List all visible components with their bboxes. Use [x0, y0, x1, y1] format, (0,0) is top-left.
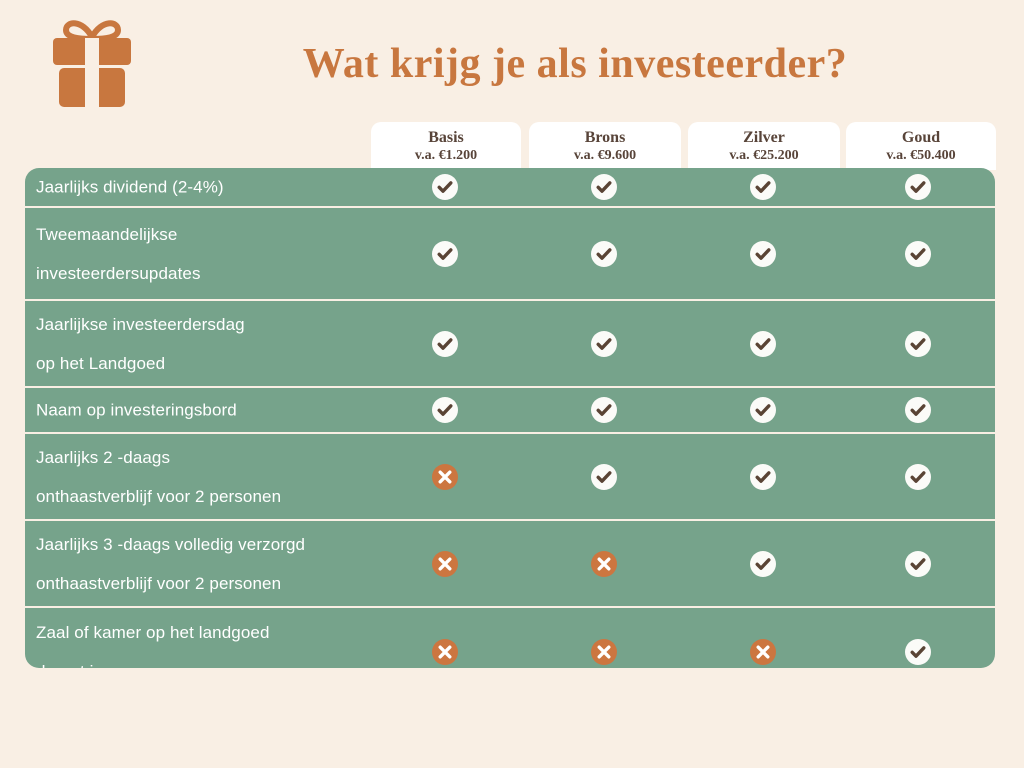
row-label-line: Jaarlijkse investeerdersdag	[36, 305, 396, 344]
column-name: Goud	[902, 128, 940, 147]
check-icon	[750, 331, 776, 357]
check-icon	[591, 464, 617, 490]
cross-icon	[750, 639, 776, 665]
row-label-line: draagt jouw naam	[36, 652, 396, 669]
row-label: Jaarlijks 3 -daags volledig verzorgdonth…	[36, 525, 396, 603]
check-icon	[750, 464, 776, 490]
row-label: Jaarlijks 2 -daagsonthaastverblijf voor …	[36, 438, 396, 516]
row-label-line: Jaarlijks 2 -daags	[36, 438, 396, 477]
row-label-line: onthaastverblijf voor 2 personen	[36, 564, 396, 603]
column-price: v.a. €1.200	[415, 147, 477, 165]
cell-included	[432, 241, 458, 267]
table-row: Zaal of kamer op het landgoeddraagt jouw…	[25, 608, 995, 668]
cross-icon	[591, 639, 617, 665]
column-price: v.a. €25.200	[729, 147, 798, 165]
check-icon	[750, 397, 776, 423]
column-name: Brons	[585, 128, 626, 147]
cell-included	[591, 464, 617, 490]
cell-included	[750, 397, 776, 423]
check-icon	[591, 331, 617, 357]
table-row: Jaarlijks 2 -daagsonthaastverblijf voor …	[25, 434, 995, 521]
check-icon	[905, 551, 931, 577]
column-name: Basis	[428, 128, 464, 147]
cell-included	[432, 397, 458, 423]
cell-excluded	[750, 639, 776, 665]
cross-icon	[432, 464, 458, 490]
check-icon	[905, 639, 931, 665]
cross-icon	[591, 551, 617, 577]
cell-excluded	[432, 639, 458, 665]
column-price: v.a. €50.400	[886, 147, 955, 165]
row-label: Jaarlijks dividend (2-4%)	[36, 168, 396, 207]
cell-included	[432, 174, 458, 200]
check-icon	[591, 397, 617, 423]
row-label-line: investeerdersupdates	[36, 254, 396, 293]
column-price: v.a. €9.600	[574, 147, 636, 165]
cell-included	[905, 464, 931, 490]
cell-excluded	[591, 639, 617, 665]
row-label-line: Zaal of kamer op het landgoed	[36, 613, 396, 652]
table-row: Jaarlijks 3 -daags volledig verzorgdonth…	[25, 521, 995, 608]
benefits-comparison-table: Jaarlijks dividend (2-4%)Tweemaandelijks…	[25, 168, 995, 668]
cell-included	[750, 241, 776, 267]
cell-excluded	[591, 551, 617, 577]
check-icon	[905, 331, 931, 357]
cell-included	[905, 331, 931, 357]
check-icon	[432, 241, 458, 267]
row-label-line: Naam op investeringsbord	[36, 391, 396, 430]
check-icon	[750, 241, 776, 267]
column-header-goud: Goud v.a. €50.400	[846, 122, 996, 170]
check-icon	[905, 464, 931, 490]
check-icon	[591, 174, 617, 200]
cell-included	[905, 639, 931, 665]
cell-included	[905, 397, 931, 423]
cell-included	[905, 174, 931, 200]
column-header-zilver: Zilver v.a. €25.200	[688, 122, 840, 170]
column-name: Zilver	[743, 128, 785, 147]
row-label: Tweemaandelijkseinvesteerdersupdates	[36, 215, 396, 293]
row-label: Zaal of kamer op het landgoeddraagt jouw…	[36, 613, 396, 669]
column-header-brons: Brons v.a. €9.600	[529, 122, 681, 170]
check-icon	[905, 174, 931, 200]
row-label-line: Jaarlijks 3 -daags volledig verzorgd	[36, 525, 396, 564]
check-icon	[591, 241, 617, 267]
row-label-line: Tweemaandelijkse	[36, 215, 396, 254]
cell-included	[591, 331, 617, 357]
page-header: Wat krijg je als investeerder?	[0, 0, 1024, 118]
cell-included	[591, 241, 617, 267]
cell-included	[432, 331, 458, 357]
cell-included	[750, 551, 776, 577]
cell-included	[591, 397, 617, 423]
check-icon	[432, 331, 458, 357]
check-icon	[432, 174, 458, 200]
check-icon	[905, 397, 931, 423]
page-title: Wat krijg je als investeerder?	[170, 40, 980, 88]
cell-included	[905, 551, 931, 577]
cell-excluded	[432, 464, 458, 490]
cell-included	[905, 241, 931, 267]
row-label-line: Jaarlijks dividend (2-4%)	[36, 168, 396, 207]
row-label-line: onthaastverblijf voor 2 personen	[36, 477, 396, 516]
check-icon	[432, 397, 458, 423]
cell-included	[750, 331, 776, 357]
cross-icon	[432, 551, 458, 577]
column-headers: Basis v.a. €1.200 Brons v.a. €9.600 Zilv…	[0, 122, 1024, 170]
check-icon	[750, 551, 776, 577]
cell-excluded	[432, 551, 458, 577]
table-row: Tweemaandelijkseinvesteerdersupdates	[25, 208, 995, 301]
cell-included	[750, 464, 776, 490]
column-header-basis: Basis v.a. €1.200	[371, 122, 521, 170]
cell-included	[750, 174, 776, 200]
cell-included	[591, 174, 617, 200]
cross-icon	[432, 639, 458, 665]
gift-icon	[46, 15, 138, 107]
row-label: Jaarlijkse investeerdersdagop het Landgo…	[36, 305, 396, 383]
row-label-line: op het Landgoed	[36, 344, 396, 383]
check-icon	[750, 174, 776, 200]
table-row: Jaarlijkse investeerdersdagop het Landgo…	[25, 301, 995, 388]
check-icon	[905, 241, 931, 267]
table-row: Jaarlijks dividend (2-4%)	[25, 168, 995, 208]
table-row: Naam op investeringsbord	[25, 388, 995, 434]
row-label: Naam op investeringsbord	[36, 391, 396, 430]
